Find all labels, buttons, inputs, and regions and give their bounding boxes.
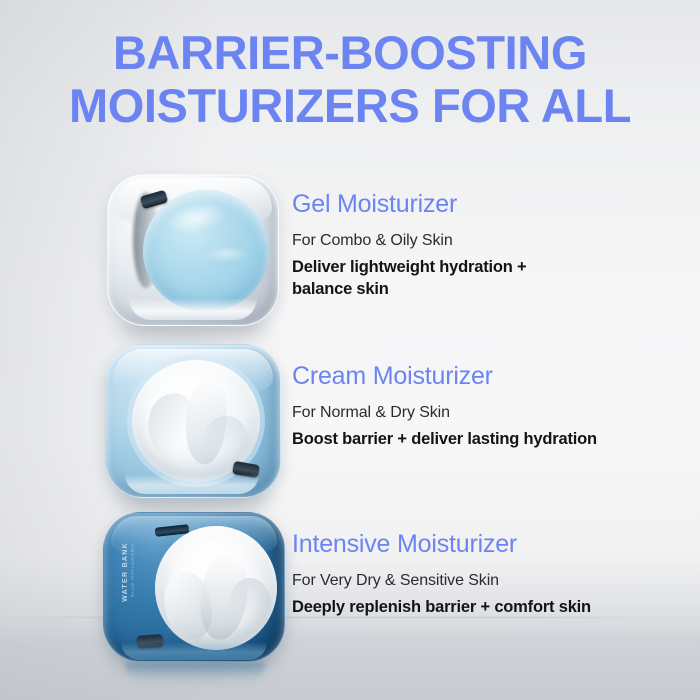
product-jar-gel-moisturizer [107,174,279,326]
jar-content-gel [143,190,269,312]
product-title-cream: Cream Moisturizer [292,362,692,390]
product-benefit-gel-line1: Deliver lightweight hydration + [292,256,692,278]
jar-base-gloss [125,474,259,494]
jar-brand-name: WATER BANK [122,542,129,602]
jar-base-gloss [121,642,267,660]
product-jar-cream-moisturizer [105,344,281,498]
product-skin-type-intensive: For Very Dry & Sensitive Skin [292,570,692,592]
product-info-gel: Gel Moisturizer For Combo & Oily Skin De… [292,190,692,300]
jar-base-gloss [129,298,257,320]
gel-highlight-secondary [205,246,249,262]
product-poster: BARRIER-BOOSTING MOISTURIZERS FOR ALL [0,0,700,700]
product-benefit-gel-line2: balance skin [292,278,692,300]
poster-title: BARRIER-BOOSTING MOISTURIZERS FOR ALL [0,26,700,132]
title-line-1: BARRIER-BOOSTING [0,26,700,79]
jar-brand-subtitle: BLUE HYALURONIC [130,542,135,597]
cream-peak-right [229,578,271,634]
jar-content-cream [155,526,277,650]
title-line-2: MOISTURIZERS FOR ALL [0,79,700,132]
product-info-intensive: Intensive Moisturizer For Very Dry & Sen… [292,530,692,618]
product-skin-type-gel: For Combo & Oily Skin [292,230,692,252]
jar-brand-label: WATER BANK BLUE HYALURONIC [117,542,139,634]
product-title-gel: Gel Moisturizer [292,190,692,218]
product-benefit-intensive-line1: Deeply replenish barrier + comfort skin [292,596,692,618]
cream-swirl-right [204,416,248,464]
product-jar-intensive-moisturizer: WATER BANK BLUE HYALURONIC [103,512,285,662]
gel-highlight-primary [163,198,229,238]
product-title-intensive: Intensive Moisturizer [292,530,692,558]
product-skin-type-cream: For Normal & Dry Skin [292,402,692,424]
product-benefit-cream-line1: Boost barrier + deliver lasting hydratio… [292,428,692,450]
jar-surface-reflection [125,662,265,688]
product-info-cream: Cream Moisturizer For Normal & Dry Skin … [292,362,692,450]
